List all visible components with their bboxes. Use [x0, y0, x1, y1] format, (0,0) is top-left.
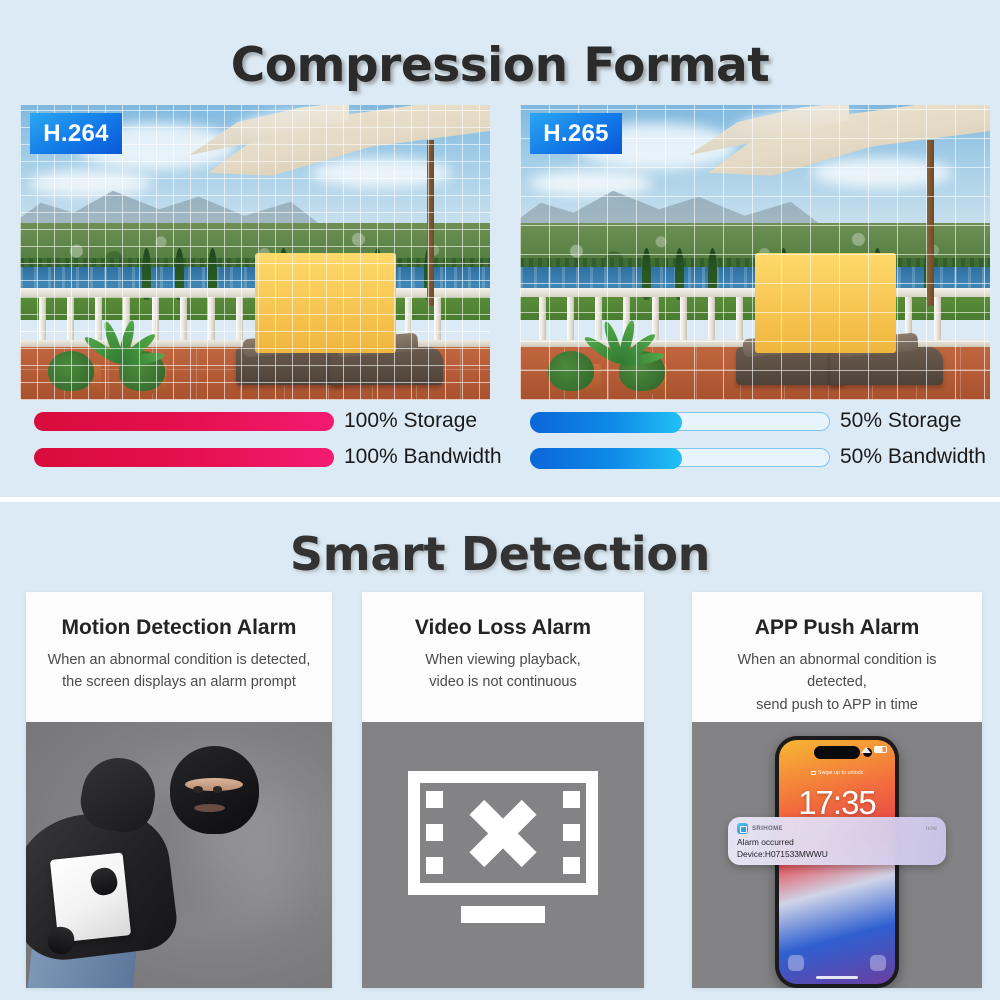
lock-hint: Swipe up to unlock	[779, 770, 895, 776]
push-notification-banner[interactable]: SRIHOME now Alarm occurred Device:H07153…	[728, 817, 946, 865]
camera-shortcut-icon[interactable]	[870, 955, 886, 971]
page-title-compression: Compression Format	[0, 38, 1000, 93]
progress-bar-bandwidth-h265	[530, 448, 830, 467]
umbrella-pole	[427, 140, 434, 305]
film-perforation	[563, 791, 580, 808]
flashlight-shortcut-icon[interactable]	[788, 955, 804, 971]
card-description-line1: When viewing playback,	[376, 649, 630, 671]
palm-plant	[586, 276, 656, 368]
card-description-line1: When an abnormal condition is detected,	[40, 649, 318, 671]
progress-bar-bandwidth-h264	[34, 448, 334, 467]
status-bar-indicators	[861, 746, 887, 753]
card-motion-detection: Motion Detection Alarm When an abnormal …	[26, 592, 332, 988]
film-perforation	[426, 791, 443, 808]
metric-row-storage: 100% Storage	[34, 408, 504, 434]
battery-icon	[874, 746, 887, 753]
film-perforation	[426, 857, 443, 874]
metric-row-bandwidth: 100% Bandwidth	[34, 444, 504, 470]
compression-format-section: Compression Format	[0, 0, 1000, 497]
lock-icon	[811, 771, 816, 775]
srihome-app-icon	[737, 823, 748, 834]
yellow-towel	[755, 253, 896, 353]
card-title: APP Push Alarm	[706, 616, 968, 640]
card-description-line2: the screen displays an alarm prompt	[40, 671, 318, 693]
wifi-icon	[861, 747, 871, 753]
card-title: Motion Detection Alarm	[40, 616, 318, 640]
metrics-h265: 50% Storage 50% Bandwidth	[530, 408, 990, 480]
burglar-eye	[213, 786, 223, 793]
card-media-burglar	[26, 722, 332, 988]
card-media-video-loss	[362, 722, 644, 988]
yellow-towel	[255, 253, 396, 353]
card-header: APP Push Alarm When an abnormal conditio…	[692, 592, 982, 722]
metrics-h264: 100% Storage 100% Bandwidth	[34, 408, 504, 480]
metric-row-storage: 50% Storage	[530, 408, 990, 434]
notification-device: Device:H071533MWWU	[737, 849, 937, 861]
card-media-phone: Swipe up to unlock 17:35 Thursday, 24 Ma…	[692, 722, 982, 988]
notification-timestamp: now	[926, 826, 937, 832]
metric-label-bandwidth-h264: 100% Bandwidth	[344, 445, 502, 469]
card-description-line2: send push to APP in time	[706, 694, 968, 716]
codec-badge-h265: H.265	[530, 113, 622, 154]
burglar-eye	[193, 786, 203, 793]
card-app-push: APP Push Alarm When an abnormal conditio…	[692, 592, 982, 988]
metric-label-storage-h265: 50% Storage	[840, 409, 961, 433]
video-loss-icon	[408, 771, 598, 939]
palm-plant	[86, 276, 156, 368]
card-description-line2: video is not continuous	[376, 671, 630, 693]
card-video-loss: Video Loss Alarm When viewing playback, …	[362, 592, 644, 988]
x-cross-icon	[466, 796, 540, 870]
home-indicator	[816, 976, 858, 979]
metric-label-bandwidth-h265: 50% Bandwidth	[840, 445, 986, 469]
photo-panel-h264: H.264	[20, 105, 490, 400]
dynamic-island	[814, 746, 860, 759]
film-perforation	[563, 824, 580, 841]
metric-label-storage-h264: 100% Storage	[344, 409, 477, 433]
progress-fill	[530, 412, 682, 433]
umbrella-pole	[927, 140, 934, 305]
card-header: Motion Detection Alarm When an abnormal …	[26, 592, 332, 722]
notification-title: Alarm occurred	[737, 837, 937, 849]
page-title-smart: Smart Detection	[0, 527, 1000, 581]
film-perforation	[426, 824, 443, 841]
progress-bar-storage-h265	[530, 412, 830, 431]
progress-fill	[530, 448, 682, 469]
card-title: Video Loss Alarm	[376, 616, 630, 640]
progress-bar-storage-h264	[34, 412, 334, 431]
monitor-stand	[461, 906, 545, 923]
lock-hint-label: Swipe up to unlock	[818, 770, 863, 776]
photo-panel-h265: H.265	[520, 105, 990, 400]
notification-header: SRIHOME now	[737, 823, 937, 834]
film-perforation	[563, 857, 580, 874]
metric-row-bandwidth: 50% Bandwidth	[530, 444, 990, 470]
card-description-line1: When an abnormal condition is detected,	[706, 649, 968, 694]
codec-badge-h264: H.264	[30, 113, 122, 154]
notification-app-name: SRIHOME	[752, 825, 783, 832]
card-header: Video Loss Alarm When viewing playback, …	[362, 592, 644, 722]
